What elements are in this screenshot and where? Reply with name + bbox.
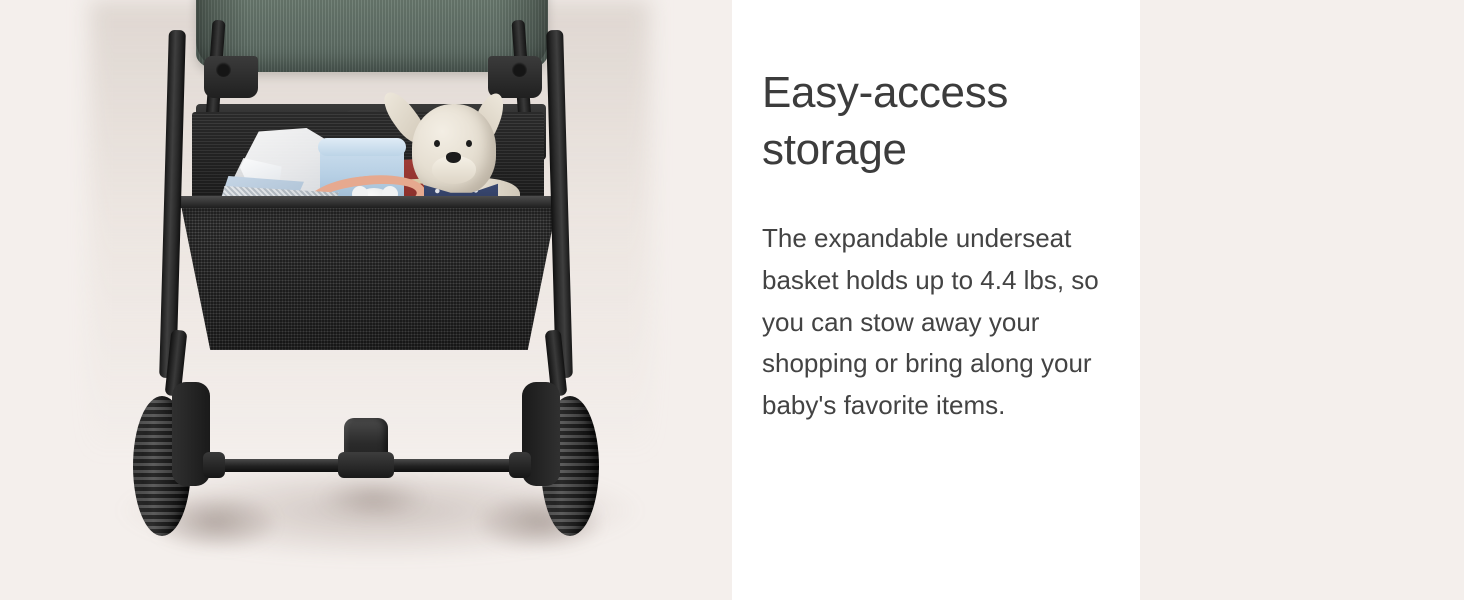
- axle-cap-left: [203, 452, 225, 478]
- feature-text-card: Easy-access storage The expandable under…: [732, 0, 1140, 600]
- axle-cap-right: [509, 452, 531, 478]
- basket-rim: [178, 196, 560, 208]
- brake-pedal-mount: [338, 452, 394, 478]
- blue-container-lid: [318, 138, 406, 156]
- center-shadow: [318, 478, 428, 518]
- hinge-pivot-right: [512, 62, 527, 77]
- stroller-illustration: [0, 0, 732, 600]
- right-background-filler: [1140, 0, 1464, 600]
- feature-heading: Easy-access storage: [762, 64, 1092, 178]
- product-image-panel: [0, 0, 732, 600]
- feature-section: Easy-access storage The expandable under…: [0, 0, 1464, 600]
- feature-body-text: The expandable underseat basket holds up…: [762, 218, 1110, 426]
- plush-bunny-eye-left: [434, 140, 440, 147]
- seat-hinge-left: [204, 56, 258, 98]
- plush-bunny-eye-right: [466, 140, 472, 147]
- plush-bunny-nose: [446, 152, 461, 163]
- hinge-pivot-left: [216, 62, 231, 77]
- underseat-storage-basket: [180, 200, 558, 350]
